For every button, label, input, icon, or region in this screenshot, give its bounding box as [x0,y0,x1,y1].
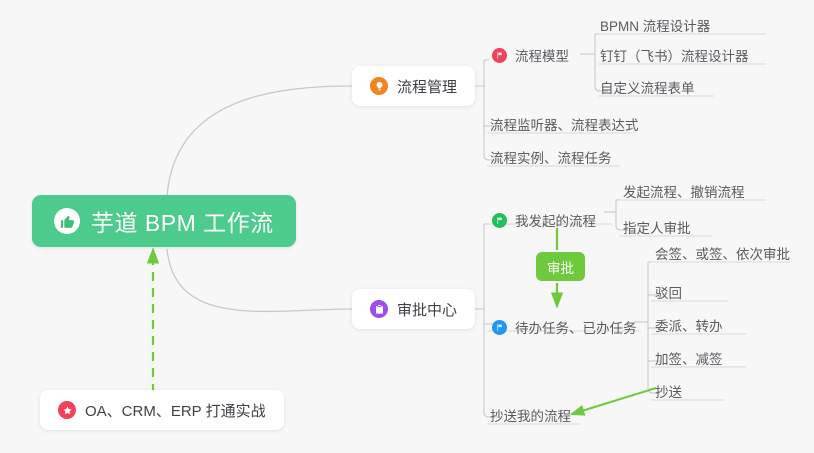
node-add-remove-sign[interactable]: 加签、减签 [655,341,723,367]
node-dingtalk-feishu-designer[interactable]: 钉钉（飞书）流程设计器 [600,38,749,64]
root-node[interactable]: 芋道 BPM 工作流 [32,195,296,247]
node-my-initiated-process[interactable]: 我发起的流程 [492,203,596,229]
star-icon [58,401,76,419]
node-start-cancel-process[interactable]: 发起流程、撤销流程 [623,174,745,200]
node-bpmn-designer[interactable]: BPMN 流程设计器 [600,8,710,34]
node-integration-practice[interactable]: OA、CRM、ERP 打通实战 [40,390,284,430]
thumbs-up-icon [54,208,80,234]
flag-icon [492,320,507,335]
node-my-initiated-process-label: 我发起的流程 [515,215,596,229]
node-cc-my-process-label: 抄送我的流程 [490,410,571,424]
node-approval-center-label: 审批中心 [397,299,457,320]
wire-root-to-process-management [167,86,352,196]
node-countersign-orsign-sequential-label: 会签、或签、依次审批 [655,248,790,262]
root-label: 芋道 BPM 工作流 [91,204,274,238]
node-carbon-copy-label: 抄送 [655,386,682,400]
lightbulb-icon [370,77,388,95]
node-reject-label: 驳回 [655,287,682,301]
node-process-listener-expression-label: 流程监听器、流程表达式 [490,119,639,133]
node-delegate-transfer-label: 委派、转办 [655,320,723,334]
arrow-cc-to-cc-my-process [572,388,656,414]
mindmap-canvas: 芋道 BPM 工作流 流程管理 流程模型 BPMN 流程设计器 钉钉（飞书）流程… [0,0,814,453]
node-bpmn-designer-label: BPMN 流程设计器 [600,20,710,34]
node-todo-done-task-label: 待办任务、已办任务 [515,322,637,336]
node-cc-my-process[interactable]: 抄送我的流程 [490,398,571,424]
node-assignee-approval[interactable]: 指定人审批 [623,210,691,236]
node-start-cancel-process-label: 发起流程、撤销流程 [623,186,745,200]
node-approval-center[interactable]: 审批中心 [352,289,475,329]
node-carbon-copy[interactable]: 抄送 [655,374,682,400]
node-custom-process-form-label: 自定义流程表单 [600,82,695,96]
clipboard-icon [370,300,388,318]
node-process-listener-expression[interactable]: 流程监听器、流程表达式 [490,107,639,133]
node-countersign-orsign-sequential[interactable]: 会签、或签、依次审批 [655,236,790,262]
approval-tag[interactable]: 审批 [536,252,585,281]
flag-icon [492,213,507,228]
node-process-management[interactable]: 流程管理 [352,66,475,106]
wire-root-to-approval-center [167,249,352,311]
node-process-model[interactable]: 流程模型 [492,38,569,64]
node-todo-done-task[interactable]: 待办任务、已办任务 [492,310,637,336]
node-dingtalk-feishu-designer-label: 钉钉（飞书）流程设计器 [600,50,749,64]
node-assignee-approval-label: 指定人审批 [623,222,691,236]
node-process-instance-task[interactable]: 流程实例、流程任务 [490,140,612,166]
node-process-management-label: 流程管理 [397,76,457,97]
node-reject[interactable]: 驳回 [655,275,682,301]
flag-icon [492,48,507,63]
approval-tag-label: 审批 [547,257,574,277]
node-integration-practice-label: OA、CRM、ERP 打通实战 [85,400,266,421]
node-custom-process-form[interactable]: 自定义流程表单 [600,70,695,96]
node-process-instance-task-label: 流程实例、流程任务 [490,152,612,166]
node-delegate-transfer[interactable]: 委派、转办 [655,308,723,334]
node-process-model-label: 流程模型 [515,50,569,64]
node-add-remove-sign-label: 加签、减签 [655,353,723,367]
